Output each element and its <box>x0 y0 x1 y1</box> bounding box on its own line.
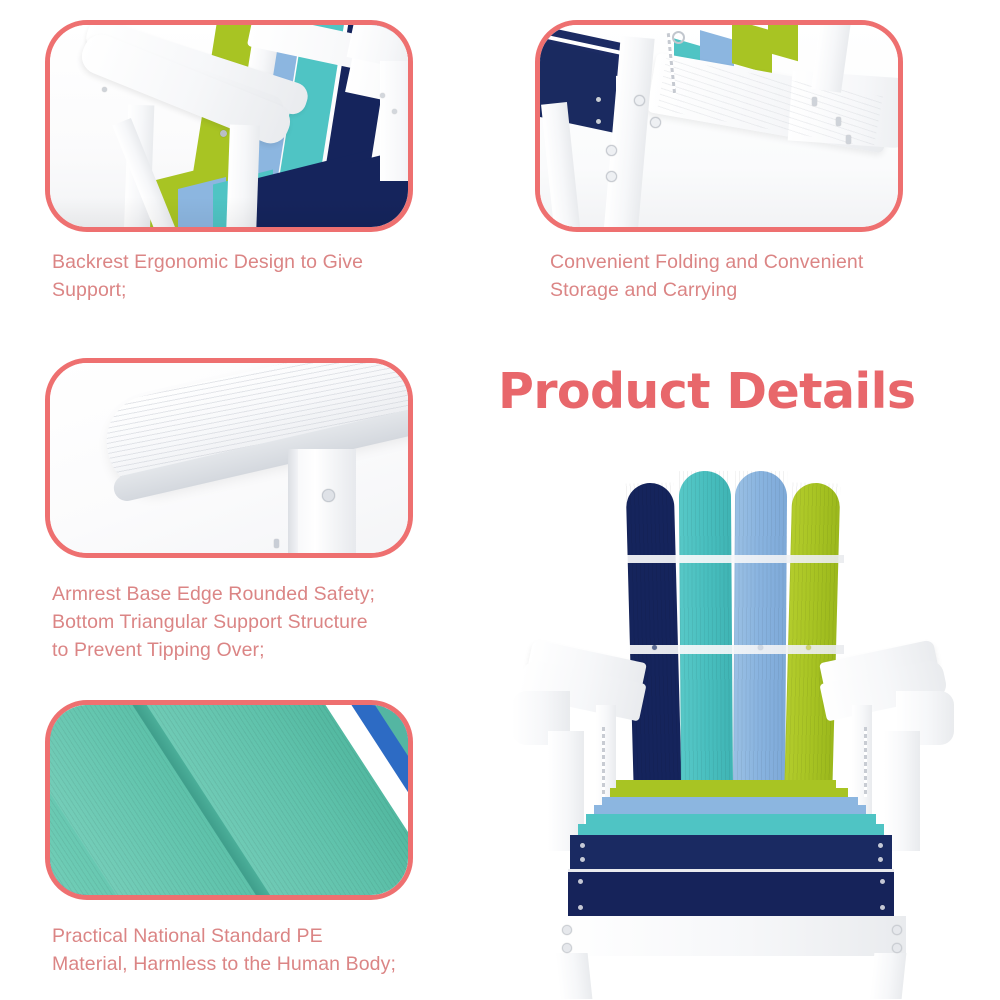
front-leg-right <box>870 953 907 999</box>
caption-backrest: Backrest Ergonomic Design to Give Suppor… <box>52 248 412 304</box>
front-leg-left <box>556 953 593 999</box>
infographic-canvas: Backrest Ergonomic Design to Give Suppor… <box>0 0 1000 1000</box>
front-apron <box>556 916 906 956</box>
backrest-slat-turquoise <box>679 471 733 816</box>
panel-pe-material-image <box>45 700 413 900</box>
page-title: Product Details <box>498 363 915 420</box>
product-image-adirondack-chair <box>500 455 970 970</box>
caption-armrest-edge: Armrest Base Edge Rounded Safety; Bottom… <box>52 580 422 664</box>
panel-armrest-edge-image <box>45 358 413 558</box>
seat-front-lower <box>568 872 894 916</box>
backrest-slat-lightblue <box>733 471 787 816</box>
caption-folding: Convenient Folding and Convenient Storag… <box>550 248 920 304</box>
panel-folding-image <box>535 20 903 232</box>
caption-pe-material: Practical National Standard PE Material,… <box>52 922 462 978</box>
panel-backrest-image <box>45 20 413 232</box>
seat-front-upper <box>570 835 892 869</box>
